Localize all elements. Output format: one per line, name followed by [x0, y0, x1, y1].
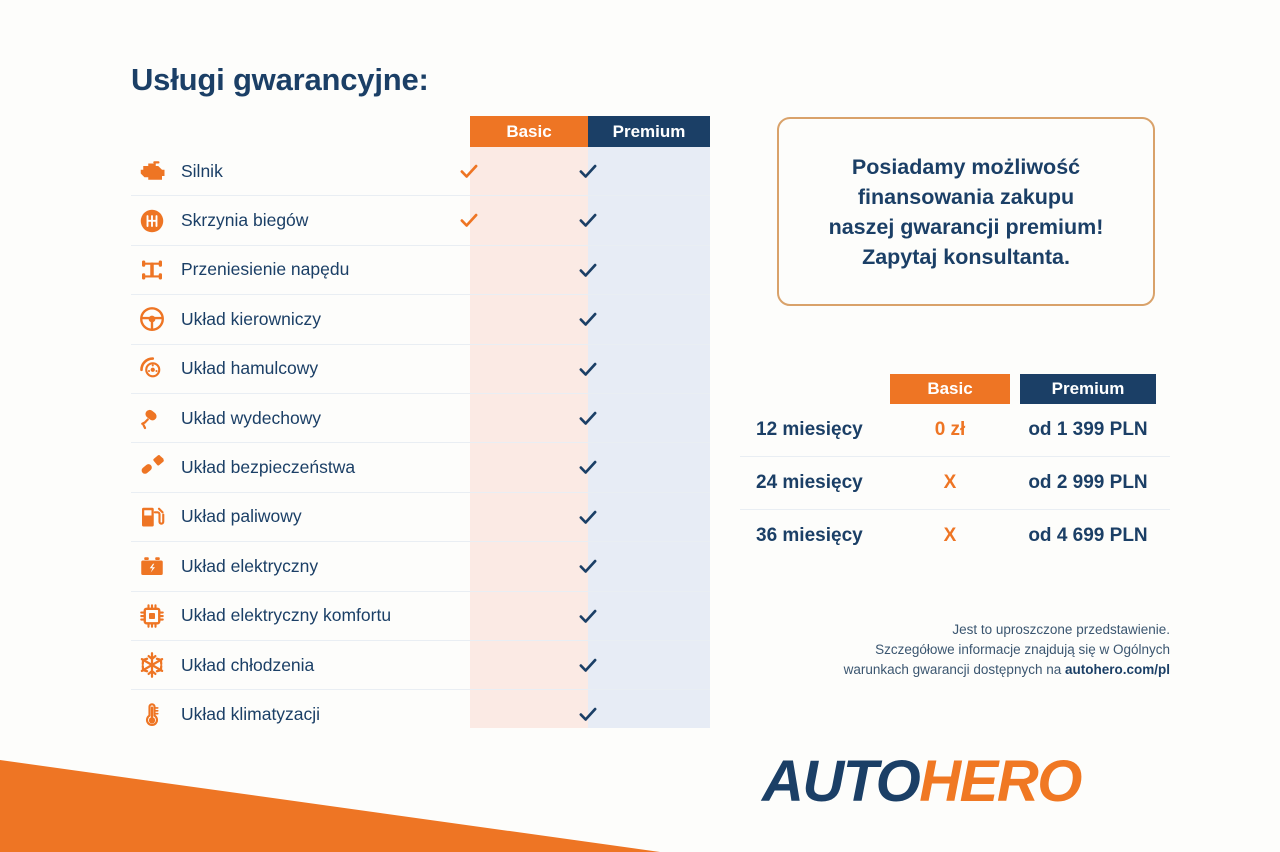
check-icon-premium [568, 147, 608, 195]
pricing-value-basic: 0 zł [890, 404, 1010, 456]
disclaimer-line-3-prefix: warunkach gwarancji dostępnych na [844, 662, 1065, 677]
pricing-table: Basic Premium 12 miesięcy0 złod 1 399 PL… [740, 374, 1170, 562]
check-icon-premium [568, 542, 608, 590]
feature-label: Przeniesienie napędu [181, 259, 349, 280]
feature-row: Silnik [131, 147, 710, 196]
feature-label: Silnik [181, 161, 223, 182]
drivetrain-axle-icon [135, 255, 169, 285]
page-title: Usługi gwarancyjne: [131, 62, 429, 98]
promo-line: finansowania zakupu [858, 182, 1074, 212]
check-icon-premium [568, 592, 608, 640]
battery-icon [135, 551, 169, 581]
exhaust-muffler-icon [135, 403, 169, 433]
feature-row: Układ bezpieczeństwa [131, 443, 710, 492]
pricing-row: 24 miesięcyXod 2 999 PLN [740, 457, 1170, 510]
feature-row: Układ elektryczny [131, 542, 710, 591]
check-icon-premium [568, 493, 608, 541]
thermometer-icon [135, 699, 169, 729]
pricing-value-premium: od 4 699 PLN [1020, 510, 1156, 562]
disclaimer-line-2: Szczegółowe informacje znajdują się w Og… [700, 640, 1170, 660]
pricing-header-row: Basic Premium [740, 374, 1170, 404]
check-icon-premium [568, 443, 608, 491]
pricing-term: 12 miesięcy [756, 404, 863, 456]
column-header-basic: Basic [470, 116, 588, 147]
disclaimer-line-3: warunkach gwarancji dostępnych na autohe… [700, 660, 1170, 680]
feature-label: Układ hamulcowy [181, 358, 318, 379]
pricing-header-basic: Basic [890, 374, 1010, 404]
check-icon-premium [568, 196, 608, 244]
warranty-services-panel: Usługi gwarancyjne: Basic Premium Silnik… [0, 0, 740, 852]
pricing-term: 36 miesięcy [756, 510, 863, 562]
pricing-value-premium: od 2 999 PLN [1020, 457, 1156, 509]
check-icon-premium [568, 345, 608, 393]
promo-line: naszej gwarancji premium! [829, 212, 1104, 242]
pricing-header-premium: Premium [1020, 374, 1156, 404]
gearbox-icon [135, 206, 169, 236]
check-icon-premium [568, 641, 608, 689]
column-header-premium: Premium [588, 116, 710, 147]
feature-row: Przeniesienie napędu [131, 246, 710, 295]
autohero-logo: AUTOHERO [762, 748, 1081, 815]
pricing-value-basic: X [890, 457, 1010, 509]
autohero-link[interactable]: autohero.com/pl [1065, 662, 1170, 677]
feature-label: Układ elektryczny komfortu [181, 605, 391, 626]
pricing-term: 24 miesięcy [756, 457, 863, 509]
feature-label: Układ bezpieczeństwa [181, 457, 355, 478]
feature-row: Układ paliwowy [131, 493, 710, 542]
pricing-row: 36 miesięcyXod 4 699 PLN [740, 510, 1170, 562]
feature-row: Układ hamulcowy [131, 345, 710, 394]
engine-icon [135, 156, 169, 186]
disclaimer: Jest to uproszczone przedstawienie. Szcz… [700, 620, 1170, 680]
pricing-rows: 12 miesięcy0 złod 1 399 PLN24 miesięcyXo… [740, 404, 1170, 562]
check-icon-premium [568, 295, 608, 343]
logo-hero: HERO [919, 749, 1081, 814]
steering-wheel-icon [135, 304, 169, 334]
feature-label: Układ chłodzenia [181, 655, 314, 676]
feature-row: Układ kierowniczy [131, 295, 710, 344]
snowflake-icon [135, 650, 169, 680]
feature-row: Układ elektryczny komfortu [131, 592, 710, 641]
chip-icon [135, 601, 169, 631]
feature-label: Układ klimatyzacji [181, 704, 320, 725]
feature-label: Układ elektryczny [181, 556, 318, 577]
feature-row: Układ chłodzenia [131, 641, 710, 690]
feature-label: Układ wydechowy [181, 408, 321, 429]
seatbelt-icon [135, 453, 169, 483]
feature-row: Skrzynia biegów [131, 196, 710, 245]
check-icon-premium [568, 690, 608, 738]
pricing-value-basic: X [890, 510, 1010, 562]
check-icon-premium [568, 394, 608, 442]
promo-line: Zapytaj konsultanta. [862, 242, 1070, 272]
brake-disc-icon [135, 354, 169, 384]
feature-row: Układ wydechowy [131, 394, 710, 443]
financing-promo-box: Posiadamy możliwość finansowania zakupu … [777, 117, 1155, 306]
promo-line: Posiadamy możliwość [852, 152, 1080, 182]
feature-label: Układ paliwowy [181, 506, 302, 527]
pricing-value-premium: od 1 399 PLN [1020, 404, 1156, 456]
check-icon-premium [568, 246, 608, 294]
pricing-row: 12 miesięcy0 złod 1 399 PLN [740, 404, 1170, 457]
check-icon-basic [449, 196, 489, 244]
feature-list: SilnikSkrzynia biegówPrzeniesienie napęd… [131, 147, 710, 739]
check-icon-basic [449, 147, 489, 195]
feature-label: Skrzynia biegów [181, 210, 308, 231]
logo-auto: AUTO [762, 749, 919, 814]
poster-canvas: Usługi gwarancyjne: Basic Premium Silnik… [0, 0, 1280, 852]
disclaimer-line-1: Jest to uproszczone przedstawienie. [700, 620, 1170, 640]
fuel-pump-icon [135, 502, 169, 532]
feature-row: Układ klimatyzacji [131, 690, 710, 738]
feature-label: Układ kierowniczy [181, 309, 321, 330]
